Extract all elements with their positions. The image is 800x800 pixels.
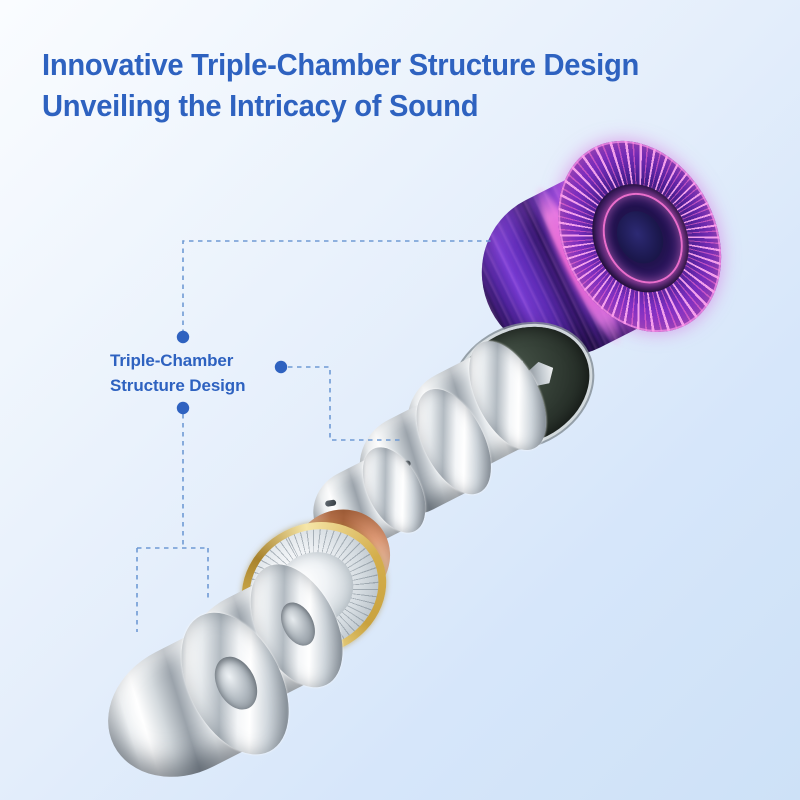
callout-label-line-1: Triple-Chamber xyxy=(110,348,320,373)
exploded-earphone-diagram xyxy=(0,0,800,800)
product-marketing-image: Innovative Triple-Chamber Structure Desi… xyxy=(0,0,800,800)
callout-label: Triple-Chamber Structure Design xyxy=(110,348,320,398)
callout-label-line-2: Structure Design xyxy=(110,373,320,398)
